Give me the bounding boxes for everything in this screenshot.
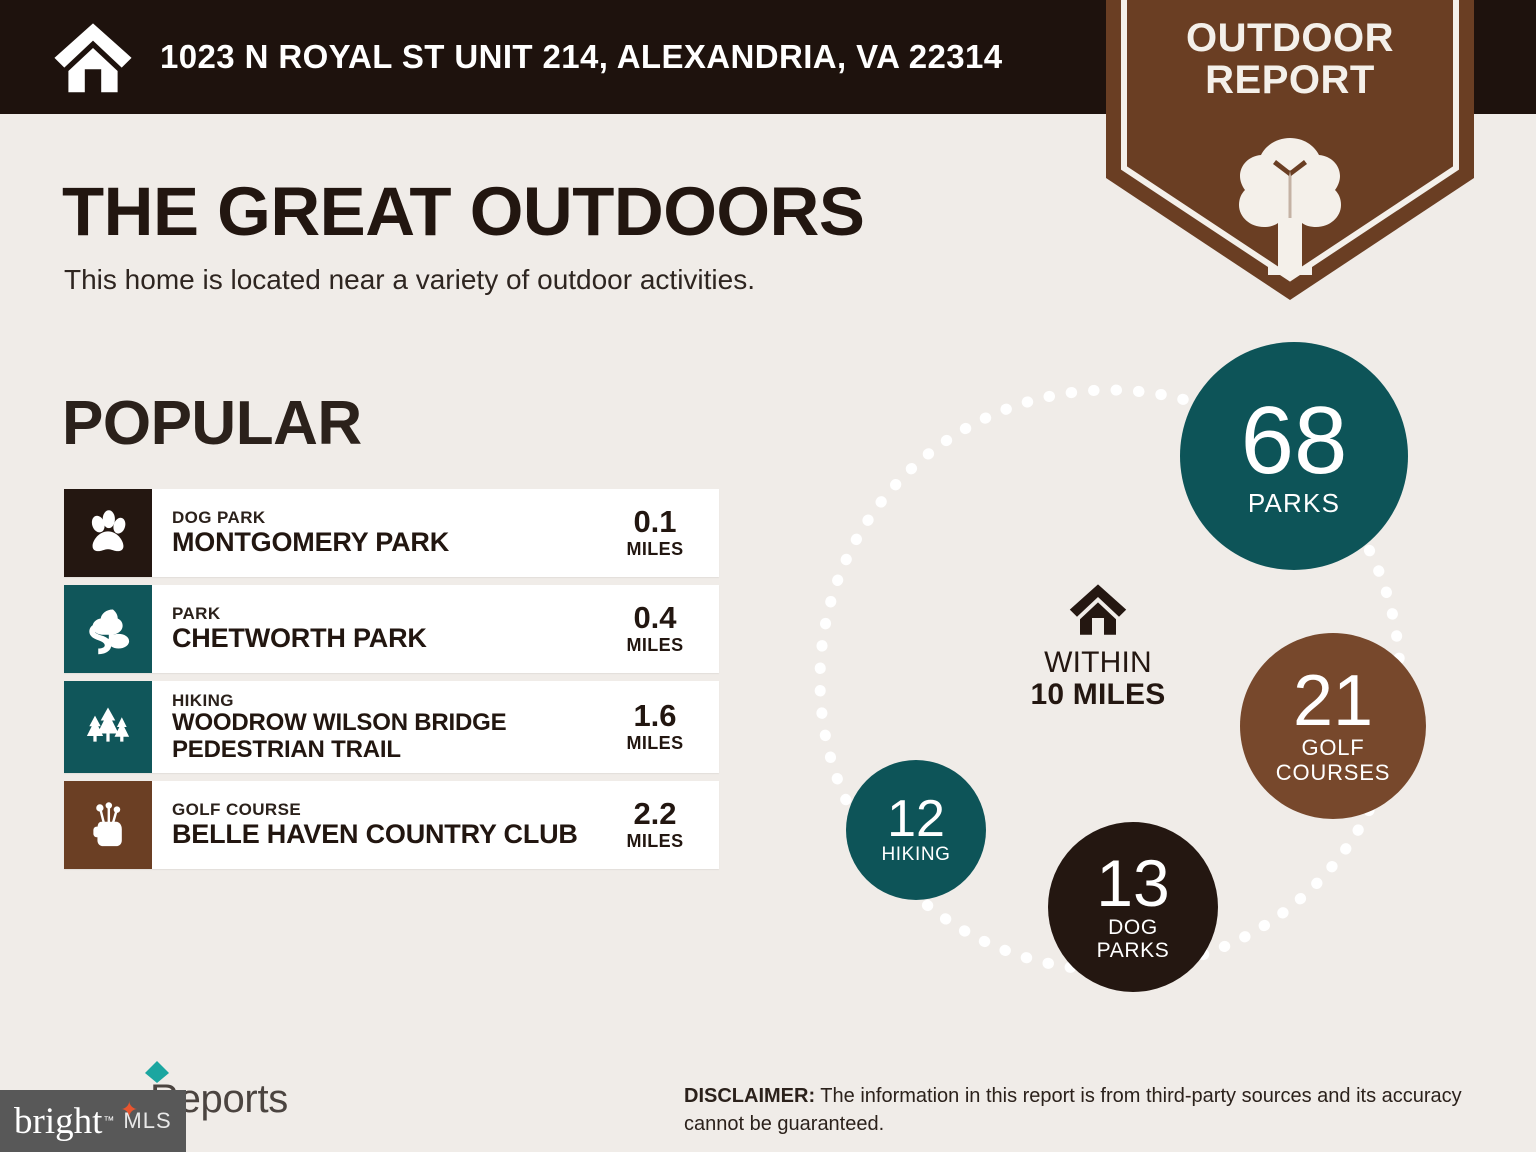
poi-distance: 0.4 MILES — [601, 585, 719, 673]
list-item[interactable]: GOLF COURSE BELLE HAVEN COUNTRY CLUB 2.2… — [64, 781, 719, 869]
stat-label: HIKING — [881, 845, 950, 865]
center-label-line-1: WITHIN — [1018, 647, 1178, 679]
stat-bubble-hiking[interactable]: 12 HIKING — [846, 760, 986, 900]
poi-text: HIKING WOODROW WILSON BRIDGE PEDESTRIAN … — [152, 681, 601, 773]
paw-icon — [82, 507, 134, 559]
badge-shape — [1106, 0, 1474, 300]
poi-distance-unit: MILES — [626, 733, 683, 754]
poi-icon-tile — [64, 781, 152, 869]
center-marker: WITHIN 10 MILES — [1018, 582, 1178, 711]
poi-icon-tile — [64, 489, 152, 577]
outdoor-report-badge: OUTDOOR REPORT — [1106, 0, 1474, 300]
poi-name-line-1: WOODROW WILSON BRIDGE — [172, 710, 601, 736]
poi-distance: 2.2 MILES — [601, 781, 719, 869]
page-subtitle: This home is located near a variety of o… — [64, 264, 755, 296]
center-label-line-2: 10 MILES — [1018, 679, 1178, 711]
poi-distance-value: 0.1 — [633, 506, 676, 539]
stat-value: 13 — [1096, 852, 1169, 915]
watermark-star-icon: ✦ — [120, 1099, 138, 1121]
stat-label: PARKS — [1248, 490, 1340, 517]
poi-distance-unit: MILES — [626, 831, 683, 852]
poi-distance-unit: MILES — [626, 539, 683, 560]
poi-icon-tile — [64, 585, 152, 673]
property-address: 1023 N ROYAL ST UNIT 214, ALEXANDRIA, VA… — [160, 38, 1002, 76]
poi-text: GOLF COURSE BELLE HAVEN COUNTRY CLUB — [152, 781, 601, 869]
poi-name: BELLE HAVEN COUNTRY CLUB — [172, 820, 601, 850]
disclaimer: DISCLAIMER: The information in this repo… — [684, 1083, 1484, 1138]
stat-bubble-dog-parks[interactable]: 13 DOG PARKS — [1048, 822, 1218, 992]
poi-category: HIKING — [172, 691, 601, 711]
poi-text: DOG PARK MONTGOMERY PARK — [152, 489, 601, 577]
within-10-miles-diagram: 68 PARKS 21 GOLF COURSES 13 DOG PARKS 12… — [790, 330, 1490, 1010]
stat-value: 21 — [1293, 667, 1373, 735]
home-icon — [52, 20, 134, 94]
poi-distance-value: 0.4 — [633, 602, 676, 635]
stat-value: 12 — [887, 795, 945, 844]
poi-distance: 0.1 MILES — [601, 489, 719, 577]
poi-icon-tile — [64, 681, 152, 773]
pine-trees-icon — [82, 701, 134, 753]
list-item[interactable]: PARK CHETWORTH PARK 0.4 MILES — [64, 585, 719, 673]
popular-list: DOG PARK MONTGOMERY PARK 0.1 MILES PARK … — [64, 489, 719, 877]
poi-distance-value: 2.2 — [633, 798, 676, 831]
stat-label-line-1: DOG — [1108, 917, 1158, 939]
stat-label-line-1: GOLF — [1301, 737, 1364, 760]
poi-distance-value: 1.6 — [633, 700, 676, 733]
poi-name: MONTGOMERY PARK — [172, 528, 601, 558]
poi-distance: 1.6 MILES — [601, 681, 719, 773]
list-item[interactable]: HIKING WOODROW WILSON BRIDGE PEDESTRIAN … — [64, 681, 719, 773]
page-title: THE GREAT OUTDOORS — [62, 172, 864, 251]
park-tree-icon — [82, 603, 134, 655]
poi-distance-unit: MILES — [626, 635, 683, 656]
stat-label-line-2: PARKS — [1097, 940, 1170, 962]
watermark-bright-text: bright — [14, 1103, 102, 1140]
poi-text: PARK CHETWORTH PARK — [152, 585, 601, 673]
stat-value: 68 — [1241, 395, 1348, 486]
poi-name: CHETWORTH PARK — [172, 624, 601, 654]
home-icon — [1067, 582, 1129, 636]
golf-bag-icon — [82, 799, 134, 851]
disclaimer-label: DISCLAIMER: — [684, 1085, 815, 1107]
poi-category: PARK — [172, 604, 601, 624]
popular-heading: POPULAR — [62, 388, 362, 459]
list-item[interactable]: DOG PARK MONTGOMERY PARK 0.1 MILES — [64, 489, 719, 577]
bright-mls-watermark: bright ™ MLS — [0, 1090, 186, 1152]
poi-name-line-2: PEDESTRIAN TRAIL — [172, 737, 601, 763]
stat-label-line-2: COURSES — [1276, 762, 1390, 785]
poi-category: GOLF COURSE — [172, 800, 601, 820]
poi-category: DOG PARK — [172, 508, 601, 528]
stat-bubble-golf-courses[interactable]: 21 GOLF COURSES — [1240, 633, 1426, 819]
watermark-tm: ™ — [103, 1115, 114, 1127]
stat-bubble-parks[interactable]: 68 PARKS — [1180, 342, 1408, 570]
